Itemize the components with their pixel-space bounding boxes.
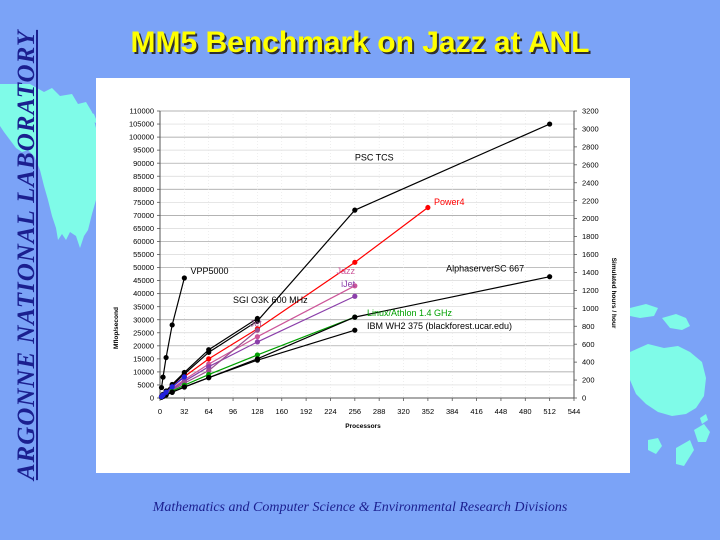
- data-point: [170, 384, 175, 389]
- y2-axis-tick-label: 2200: [582, 196, 599, 205]
- data-point: [425, 205, 430, 210]
- y-axis-tick-label: 55000: [133, 250, 154, 259]
- y-axis-tick-label: 105000: [129, 120, 154, 129]
- y2-axis-tick-label: 1400: [582, 268, 599, 277]
- y2-axis-tick-label: 400: [582, 358, 595, 367]
- organization-vertical-label: ARGONNE NATIONAL LABORATORY: [13, 5, 61, 505]
- x-axis-tick-label: 416: [470, 407, 483, 416]
- x-axis-tick-label: 544: [568, 407, 581, 416]
- data-point: [206, 356, 211, 361]
- data-point: [352, 208, 357, 213]
- data-point: [255, 356, 260, 361]
- x-axis-tick-label: 224: [324, 407, 337, 416]
- series-annotation-label: Linux/Athlon 1.4 GHz: [367, 308, 453, 318]
- data-point: [170, 390, 175, 395]
- y2-axis-tick-label: 1200: [582, 286, 599, 295]
- x-axis-tick-label: 352: [422, 407, 435, 416]
- data-point: [182, 384, 187, 389]
- data-point: [352, 328, 357, 333]
- data-point: [182, 374, 187, 379]
- benchmark-line-chart: 0500010000150002000025000300003500040000…: [96, 78, 630, 473]
- x-axis-tick-label: 448: [495, 407, 508, 416]
- x-axis-tick-label: 320: [397, 407, 410, 416]
- y2-axis-tick-label: 1600: [582, 250, 599, 259]
- data-point: [255, 328, 260, 333]
- y-axis-tick-label: 85000: [133, 172, 154, 181]
- y-axis-tick-label: 10000: [133, 368, 154, 377]
- y-axis-tick-label: 110000: [130, 107, 154, 116]
- x-axis-tick-label: 32: [180, 407, 188, 416]
- y-axis-tick-label: 20000: [133, 341, 154, 350]
- landmass-nz-south: [676, 440, 694, 466]
- series-annotation-label: Power4: [434, 197, 465, 207]
- y-axis-tick-label: 100000: [129, 133, 154, 142]
- y-axis-tick-label: 5000: [137, 381, 154, 390]
- y-axis-tick-labels: 0500010000150002000025000300003500040000…: [129, 107, 154, 403]
- y-axis-tick-label: 80000: [133, 185, 154, 194]
- data-point: [159, 385, 164, 390]
- landmass-tasmania: [648, 438, 662, 454]
- series-annotation-label: IBM WH2 375 (blackforest.ucar.edu): [367, 321, 512, 331]
- series-annotation-label: Jet: [250, 318, 263, 328]
- x-axis-tick-label: 0: [158, 407, 162, 416]
- y-axis-tick-label: 70000: [133, 211, 154, 220]
- landmass-png: [662, 314, 690, 330]
- data-point: [182, 370, 187, 375]
- y-axis-tick-label: 30000: [133, 315, 154, 324]
- y-axis-tick-label: 15000: [133, 354, 154, 363]
- series-annotation-label: VPP5000: [190, 266, 228, 276]
- landmass-nz-islet: [700, 414, 708, 424]
- y-axis-tick-label: 25000: [133, 328, 154, 337]
- x-axis-tick-label: 256: [349, 407, 362, 416]
- y-axis-tick-label: 95000: [133, 146, 154, 155]
- x-axis-tick-label: 288: [373, 407, 386, 416]
- data-point: [352, 294, 357, 299]
- y2-axis-tick-label: 800: [582, 322, 595, 331]
- data-point: [182, 275, 187, 280]
- y-axis-tick-label: 40000: [133, 289, 154, 298]
- series-annotation-label: SGI O3K 600 MHz: [233, 295, 308, 305]
- series-annotation-label: iJet: [341, 279, 356, 289]
- x-axis-tick-label: 512: [543, 407, 556, 416]
- data-point: [352, 260, 357, 265]
- x-axis-tick-label: 384: [446, 407, 459, 416]
- series-annotation-label: AlphaserverSC 667: [446, 263, 524, 273]
- y2-axis-tick-label: 3000: [582, 125, 599, 134]
- y2-axis-tick-label: 600: [582, 340, 595, 349]
- x-axis-tick-label: 160: [276, 407, 289, 416]
- data-point: [255, 339, 260, 344]
- y-axis-tick-label: 45000: [133, 276, 154, 285]
- y2-axis-tick-label: 2800: [582, 142, 599, 151]
- x-axis-tick-label: 192: [300, 407, 313, 416]
- y-axis-tick-label: 35000: [133, 302, 154, 311]
- data-point: [547, 121, 552, 126]
- y-axis-tick-label: 60000: [133, 237, 154, 246]
- y-axis-tick-label: 50000: [133, 263, 154, 272]
- data-point: [170, 322, 175, 327]
- landmass-indonesia: [630, 304, 658, 318]
- data-point: [352, 315, 357, 320]
- y-axis-tick-label: 90000: [133, 159, 154, 168]
- data-point: [206, 375, 211, 380]
- y-axis-tick-label: 0: [150, 394, 154, 403]
- y-axis-tick-label: 65000: [133, 224, 154, 233]
- data-point: [255, 334, 260, 339]
- x-axis-tick-label: 64: [205, 407, 213, 416]
- footer-divisions-label: Mathematics and Computer Science & Envir…: [0, 500, 720, 516]
- page-title: MM5 Benchmark on Jazz at ANL: [0, 26, 720, 60]
- y-axis-title: Mflop/second: [113, 307, 120, 349]
- y2-axis-tick-label: 2600: [582, 160, 599, 169]
- y2-axis-tick-label: 200: [582, 376, 595, 385]
- landmass-australia: [630, 344, 706, 416]
- data-point: [160, 375, 165, 380]
- y2-axis-tick-label: 0: [582, 394, 586, 403]
- landmass-nz-north: [694, 424, 710, 442]
- series-annotation-label: PSC TCS: [355, 153, 394, 163]
- data-point: [163, 355, 168, 360]
- x-axis-tick-label: 128: [251, 407, 264, 416]
- x-axis-tick-label: 96: [229, 407, 237, 416]
- y2-axis-tick-label: 2400: [582, 178, 599, 187]
- y2-axis-title: Simulated hours / hour: [610, 258, 617, 329]
- x-axis-title: Processors: [345, 423, 381, 430]
- chart-panel: 0500010000150002000025000300003500040000…: [96, 78, 630, 473]
- x-axis-tick-label: 480: [519, 407, 532, 416]
- y2-axis-tick-label: 1800: [582, 232, 599, 241]
- data-point: [206, 347, 211, 352]
- y2-axis-tick-label: 1000: [582, 304, 599, 313]
- y2-axis-tick-label: 2000: [582, 214, 599, 223]
- data-point: [163, 390, 168, 395]
- y-axis-tick-label: 75000: [133, 198, 154, 207]
- series-annotation-label: Jazz: [337, 266, 356, 276]
- y2-axis-tick-label: 3200: [582, 107, 599, 116]
- data-point: [547, 274, 552, 279]
